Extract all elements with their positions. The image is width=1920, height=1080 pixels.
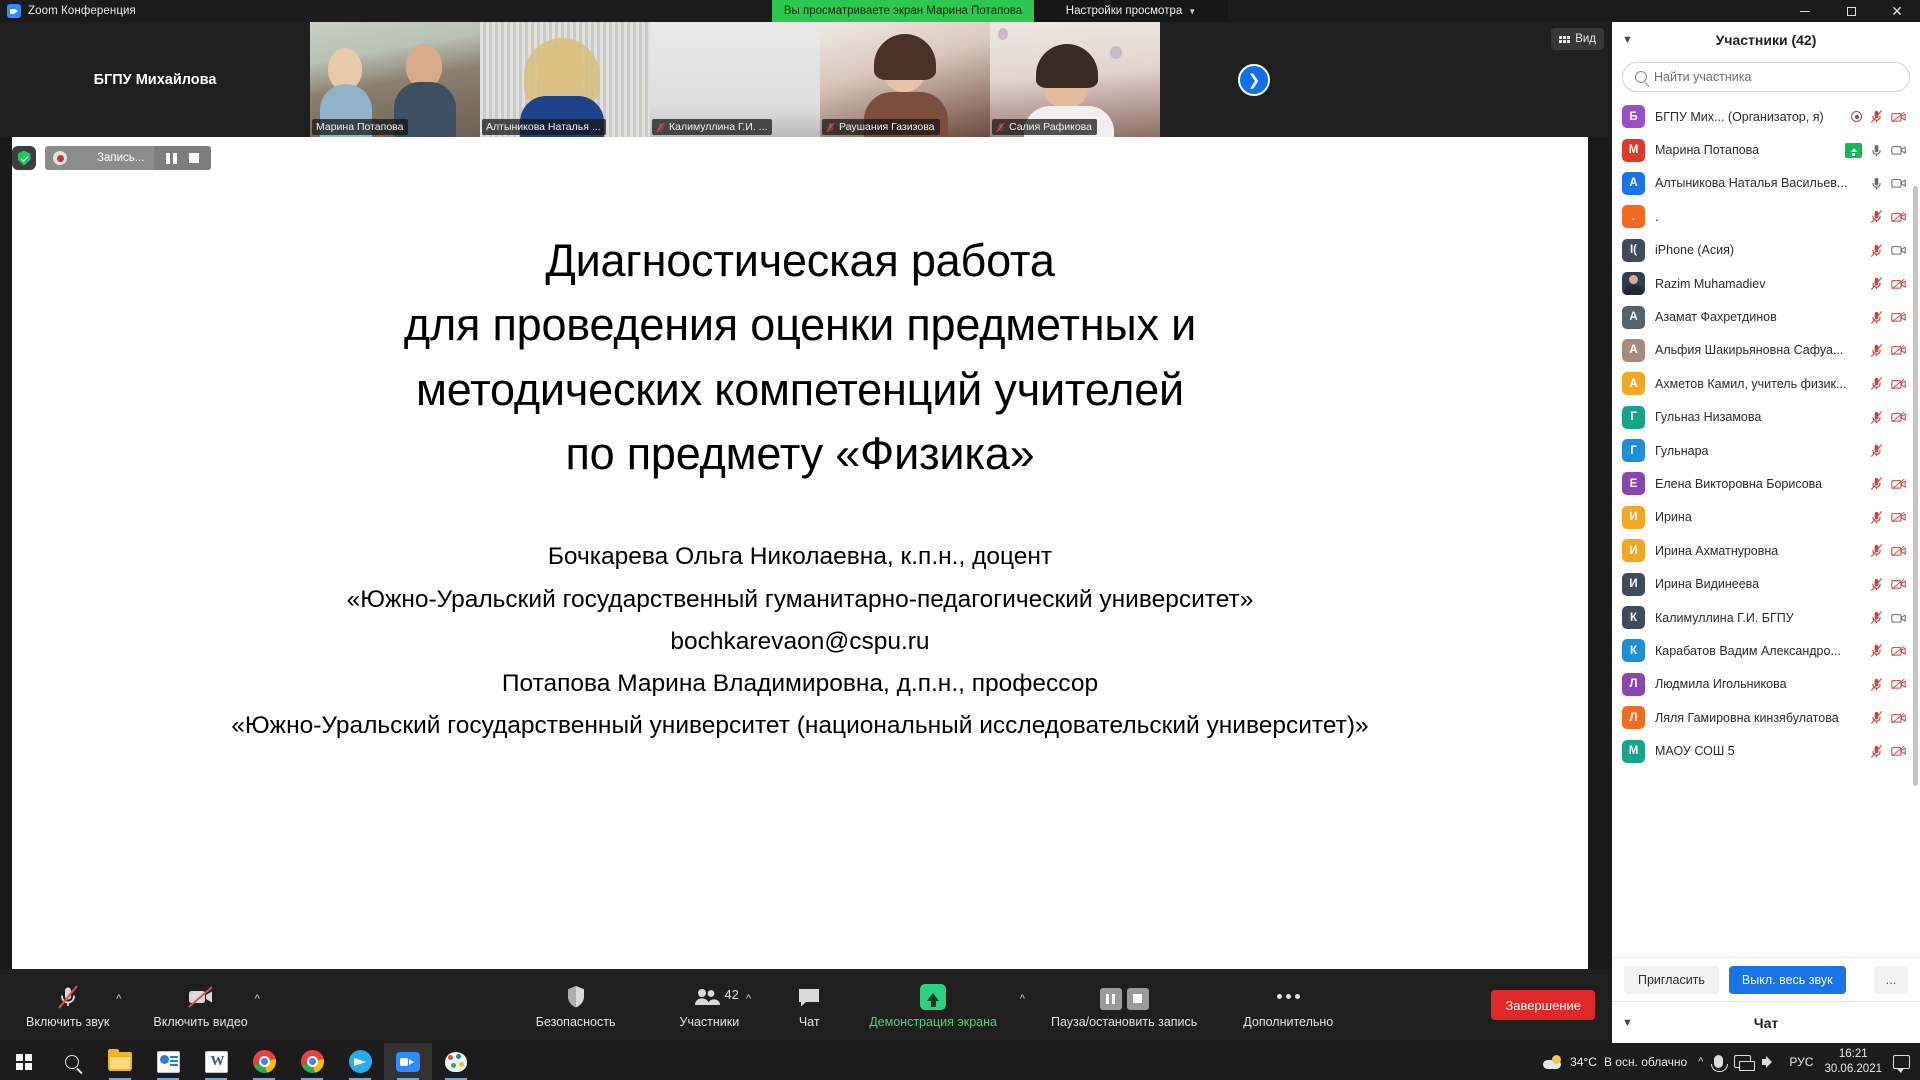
thumbnail-name-text: Марина Потапова: [316, 121, 403, 133]
microphone-muted-icon[interactable]: [1869, 243, 1884, 258]
security-button[interactable]: Безопасность: [532, 969, 620, 1043]
microphone-muted-icon[interactable]: [1869, 376, 1884, 391]
shield-icon: [565, 984, 587, 1010]
start-video-button[interactable]: Включить видео ^: [149, 969, 251, 1043]
close-icon: ✕: [1891, 4, 1903, 18]
video-muted-icon: [186, 984, 216, 1010]
microphone-muted-icon[interactable]: [1869, 744, 1884, 759]
video-icon[interactable]: [1891, 610, 1906, 625]
microphone-tray-icon[interactable]: [1714, 1055, 1723, 1068]
recording-controls: [154, 146, 211, 170]
participant-status-icons: [1869, 176, 1906, 191]
participants-label: Участники: [680, 1015, 740, 1029]
chrome-icon: [253, 1050, 276, 1073]
taskbar-paint[interactable]: [432, 1043, 480, 1080]
chevron-up-icon[interactable]: ^: [116, 993, 121, 1005]
microphone-muted-icon: [1869, 610, 1884, 625]
screen-share-banner: Вы просматриваете экран Марина Потапова: [772, 0, 1034, 22]
participant-status-icons: [1869, 744, 1906, 759]
microphone-muted-icon: [1869, 443, 1884, 458]
thumbnail-name-label: Марина Потапова: [312, 119, 408, 135]
video-muted-icon[interactable]: [1891, 577, 1906, 592]
avatar-initial: А: [1622, 339, 1645, 362]
window-title-bar: Zoom Конференция Вы просматриваете экран…: [0, 0, 1920, 22]
pause-recording-button[interactable]: [166, 153, 177, 164]
chevron-up-icon[interactable]: ^: [255, 993, 260, 1005]
recording-panel: Запись...: [45, 146, 211, 170]
network-tray-icon[interactable]: [1734, 1055, 1751, 1068]
taskbar-file-explorer[interactable]: [96, 1043, 144, 1080]
video-muted-icon: [1891, 577, 1906, 591]
presentation-slide: Диагностическая работа для проведения оц…: [12, 137, 1588, 969]
thumbnail-name-text: Раушания Газизова: [839, 121, 935, 133]
participants-panel: ▼ Участники (42) Найти участника ББГПУ М…: [1612, 22, 1920, 1043]
participant-row[interactable]: ЕЕлена Викторовна Борисова: [1612, 467, 1920, 500]
telegram-icon: [349, 1050, 372, 1073]
participants-scrollbar[interactable]: [1913, 186, 1918, 786]
participant-row[interactable]: ААлтыникова Наталья Васильев...: [1612, 167, 1920, 200]
participant-row[interactable]: ИИрина Ахматнуровна: [1612, 534, 1920, 567]
participant-status-icons: [1869, 243, 1906, 258]
slide-title-line: методических компетенций учителей: [404, 358, 1196, 422]
start-video-label: Включить видео: [153, 1015, 247, 1029]
more-options-button[interactable]: Дополнительно: [1239, 969, 1337, 1043]
participant-status-icons: [1869, 276, 1906, 291]
video-muted-icon: [1891, 310, 1906, 324]
app-title: Zoom Конференция: [28, 5, 136, 17]
avatar-initial: .: [1622, 205, 1645, 228]
video-muted-icon: [1891, 544, 1906, 558]
stop-recording-button[interactable]: [189, 153, 199, 163]
thumbnail-name-label: Салия Рафикова: [992, 119, 1097, 135]
view-layout-button[interactable]: Вид: [1551, 28, 1604, 50]
participant-row[interactable]: ББГПУ Мих... (Организатор, я): [1612, 100, 1920, 133]
video-muted-icon[interactable]: [1891, 376, 1906, 391]
chevron-up-icon[interactable]: ^: [1020, 993, 1025, 1005]
volume-tray-icon[interactable]: [1762, 1055, 1778, 1069]
pause-stop-record-button[interactable]: Пауза/остановить запись: [1047, 969, 1201, 1043]
participants-list[interactable]: ББГПУ Мих... (Организатор, я) ММарина По…: [1612, 100, 1920, 957]
microphone-muted-icon[interactable]: [1869, 476, 1884, 491]
slide-author-line: Потапова Марина Владимировна, д.п.н., пр…: [231, 663, 1368, 705]
record-indicator-icon: [53, 151, 67, 165]
search-placeholder: Найти участника: [1654, 70, 1751, 84]
microphone-muted-icon[interactable]: [1869, 310, 1884, 325]
video-muted-icon[interactable]: [1891, 109, 1906, 124]
participant-status-icons: [1869, 577, 1906, 592]
participant-name: iPhone (Асия): [1655, 243, 1859, 257]
zoom-logo-icon: [7, 4, 21, 18]
system-tray: 34°C В осн. облачно ^ РУС 16:21 30.06.20…: [1543, 1047, 1920, 1076]
search-icon: [65, 1055, 79, 1069]
show-hidden-icons-button[interactable]: ^: [1698, 1056, 1703, 1068]
thumbnail-name-label: Раушания Газизова: [822, 119, 940, 135]
avatar-initial: I(: [1622, 239, 1645, 262]
taskbar-powerpoint[interactable]: [144, 1043, 192, 1080]
end-meeting-button[interactable]: Завершение: [1491, 990, 1595, 1020]
participant-name: .: [1655, 210, 1859, 224]
powerpoint-icon: [157, 1051, 180, 1073]
participant-row[interactable]: ААхметов Камил, учитель физик...: [1612, 367, 1920, 400]
microphone-muted-icon[interactable]: [1869, 109, 1884, 124]
participant-name: Калимуллина Г.И. БГПУ: [1655, 611, 1859, 625]
microphone-icon: [1869, 176, 1884, 191]
video-muted-icon[interactable]: [1891, 643, 1906, 658]
slide-title-line: по предмету «Физика»: [404, 422, 1196, 486]
microphone-muted-icon[interactable]: [1869, 710, 1884, 725]
participant-status-icons: [1869, 310, 1906, 325]
participant-name: Ирина: [1655, 510, 1859, 524]
participant-row[interactable]: ККарабатов Вадим Александро...: [1612, 634, 1920, 667]
video-thumbnail[interactable]: Марина Потапова: [310, 22, 480, 137]
participant-row[interactable]: Razim Muhamadiev: [1612, 267, 1920, 300]
participant-row[interactable]: ММАОУ СОШ 5: [1612, 734, 1920, 767]
microphone-muted-icon: [1869, 710, 1884, 725]
video-muted-icon[interactable]: [1891, 343, 1906, 358]
video-thumbnail[interactable]: Калимуллина Г.И. ...: [650, 22, 820, 137]
folder-icon: [108, 1052, 132, 1071]
participant-status-icons: [1869, 610, 1906, 625]
shared-screen-area: Запись... Диагностическая работа для про…: [12, 137, 1588, 969]
microphone-icon: [1869, 143, 1884, 158]
slide-affiliation-line: «Южно-Уральский государственный гуманита…: [231, 579, 1368, 621]
panel-more-button[interactable]: ...: [1874, 966, 1908, 994]
end-meeting-label: Завершение: [1505, 998, 1581, 1013]
avatar-initial: Л: [1622, 706, 1645, 729]
slide-affiliation-line: «Южно-Уральский государственный универси…: [231, 705, 1368, 747]
invite-label: Пригласить: [1638, 973, 1705, 987]
video-thumbnail[interactable]: Алтыникова Наталья ...: [480, 22, 650, 137]
video-muted-icon: [1891, 510, 1906, 524]
participant-name: Азамат Фахретдинов: [1655, 310, 1859, 324]
video-muted-icon: [1891, 110, 1906, 124]
participant-row[interactable]: ММарина Потапова: [1612, 133, 1920, 166]
host-indicator-icon: [1851, 111, 1862, 122]
share-screen-button[interactable]: Демонстрация экрана ^: [865, 969, 1001, 1043]
microphone-muted-icon: [1869, 510, 1884, 525]
video-muted-icon[interactable]: [1891, 410, 1906, 425]
participant-name: Алтыникова Наталья Васильев...: [1655, 176, 1859, 190]
participant-status-icons: [1869, 543, 1906, 558]
security-shield-button[interactable]: [12, 146, 36, 170]
security-label: Безопасность: [536, 1015, 616, 1029]
video-muted-icon: [1891, 410, 1906, 424]
avatar-initial: К: [1622, 639, 1645, 662]
participant-name: Людмила Игольникова: [1655, 677, 1859, 691]
video-muted-icon[interactable]: [1891, 543, 1906, 558]
microphone-muted-icon[interactable]: [1869, 209, 1884, 224]
self-video-tile[interactable]: БГПУ Михайлова: [0, 22, 310, 137]
participant-status-icons: [1869, 410, 1906, 425]
participant-status-icons: [1845, 143, 1906, 158]
video-muted-icon: [1891, 477, 1906, 491]
chevron-up-icon[interactable]: ^: [746, 993, 751, 1005]
participant-name: Ахметов Камил, учитель физик...: [1655, 377, 1859, 391]
participants-button[interactable]: 42 Участники ^: [676, 969, 744, 1043]
video-icon[interactable]: [1891, 243, 1906, 258]
shield-icon: [18, 151, 31, 166]
microphone-muted-icon: [1869, 677, 1884, 692]
taskbar-zoom[interactable]: [384, 1043, 432, 1080]
video-muted-icon: [1891, 343, 1906, 357]
video-none-placeholder: [1891, 443, 1906, 458]
participant-status-icons: [1869, 643, 1906, 658]
video-muted-icon[interactable]: [1891, 710, 1906, 725]
video-muted-icon: [1891, 277, 1906, 291]
thumbnail-name-text: Салия Рафикова: [1009, 121, 1092, 133]
participant-name: Карабатов Вадим Александро...: [1655, 644, 1859, 658]
title-bar-left: Zoom Конференция: [0, 4, 760, 18]
next-page-button[interactable]: ❯: [1238, 64, 1270, 96]
slide-authors-block: Бочкарева Ольга Николаевна, к.п.н., доце…: [231, 536, 1368, 747]
microphone-muted-icon: [1869, 343, 1884, 358]
microphone-muted-icon[interactable]: [1869, 443, 1884, 458]
participant-row[interactable]: ИИрина: [1612, 501, 1920, 534]
video-muted-icon[interactable]: [1891, 744, 1906, 759]
taskbar-clock[interactable]: 16:21 30.06.2021: [1824, 1047, 1882, 1076]
grid-icon: [1559, 36, 1570, 43]
avatar-initial: М: [1622, 740, 1645, 763]
chat-bubble-icon: [797, 984, 821, 1010]
video-filmstrip: БГПУ Михайлова Марина Потапова Алтыников…: [0, 22, 1612, 137]
zoom-icon: [396, 1052, 420, 1072]
participant-status-icons: [1869, 343, 1906, 358]
chat-panel-header[interactable]: ▼ Чат: [1612, 1001, 1920, 1043]
clock-time: 16:21: [1824, 1047, 1882, 1061]
avatar-initial: Г: [1622, 406, 1645, 429]
microphone-muted-icon[interactable]: [1869, 643, 1884, 658]
avatar-photo: [1622, 272, 1645, 295]
participant-name: Razim Muhamadiev: [1655, 277, 1859, 291]
start-button[interactable]: [0, 1043, 48, 1080]
microphone-muted-icon: [1869, 376, 1884, 391]
more-options-label: Дополнительно: [1243, 1015, 1333, 1029]
slide-author-line: Бочкарева Ольга Николаевна, к.п.н., доце…: [231, 536, 1368, 578]
language-indicator[interactable]: РУС: [1789, 1055, 1813, 1069]
avatar-initial: А: [1622, 172, 1645, 195]
chat-label: Чат: [799, 1015, 820, 1029]
windows-taskbar: 34°C В осн. облачно ^ РУС 16:21 30.06.20…: [0, 1043, 1920, 1080]
microphone-muted-icon: [1869, 276, 1884, 291]
thumbnail-name-text: Калимуллина Г.И. ...: [669, 121, 767, 133]
participant-row[interactable]: ААльфия Шакирьяновна Сафуа...: [1612, 334, 1920, 367]
video-thumbnail[interactable]: Раушания Газизова: [820, 22, 990, 137]
screen-sharing-badge-icon: [1845, 143, 1862, 158]
windows-logo-icon: [16, 1054, 32, 1070]
view-options-button[interactable]: Настройки просмотра ▼: [1034, 0, 1228, 22]
avatar-initial: И: [1622, 539, 1645, 562]
participants-panel-header: ▼ Участники (42): [1612, 22, 1920, 58]
microphone-muted-icon[interactable]: [1869, 343, 1884, 358]
participant-name: Марина Потапова: [1655, 143, 1835, 157]
maximize-icon: [1847, 7, 1856, 16]
participant-name: Альфия Шакирьяновна Сафуа...: [1655, 343, 1859, 357]
microphone-muted-icon: [1869, 310, 1884, 325]
participant-name: Гульназ Низамова: [1655, 410, 1859, 424]
participant-name: Ирина Ахматнуровна: [1655, 544, 1859, 558]
recording-control-bar: Запись...: [12, 146, 211, 170]
avatar-initial: Г: [1622, 439, 1645, 462]
participant-row[interactable]: ККалимуллина Г.И. БГПУ: [1612, 601, 1920, 634]
video-icon[interactable]: [1891, 176, 1906, 191]
taskbar-chrome[interactable]: [240, 1043, 288, 1080]
view-options-label: Настройки просмотра: [1066, 5, 1182, 17]
self-video-label: БГПУ Михайлова: [94, 72, 217, 88]
chevron-down-icon: ▼: [1188, 7, 1196, 16]
participants-panel-title: Участники (42): [1716, 32, 1817, 48]
participant-status-icons: [1869, 710, 1906, 725]
word-icon: [205, 1051, 228, 1073]
microphone-muted-icon[interactable]: [1869, 677, 1884, 692]
taskbar-search-button[interactable]: [48, 1043, 96, 1080]
thumbnail-name-text: Алтыникова Наталья ...: [486, 121, 601, 133]
avatar-initial: А: [1622, 306, 1645, 329]
microphone-muted-icon[interactable]: [1869, 543, 1884, 558]
microphone-muted-icon: [1869, 209, 1884, 224]
microphone-muted-icon[interactable]: [1869, 276, 1884, 291]
participant-name: Гульнара: [1655, 444, 1859, 458]
participant-row[interactable]: ААзамат Фахретдинов: [1612, 300, 1920, 333]
video-icon: [1891, 243, 1906, 257]
microphone-muted-icon: [56, 984, 80, 1010]
participant-row[interactable]: I(iPhone (Асия): [1612, 234, 1920, 267]
video-muted-icon[interactable]: [1891, 310, 1906, 325]
share-screen-label: Демонстрация экрана: [869, 1015, 997, 1029]
search-icon: [1635, 71, 1647, 83]
participant-row[interactable]: ИИрина Видинеева: [1612, 567, 1920, 600]
taskbar-word[interactable]: [192, 1043, 240, 1080]
pause-stop-record-icon: [1100, 984, 1149, 1010]
microphone-icon[interactable]: [1869, 143, 1884, 158]
microphone-muted-icon: [1869, 243, 1884, 258]
filmstrip-right-area: ❯ Вид: [1160, 22, 1612, 137]
video-thumbnail[interactable]: Салия Рафикова: [990, 22, 1160, 137]
participant-row[interactable]: ЛЛюдмила Игольникова: [1612, 668, 1920, 701]
participant-status-icons: [1869, 510, 1906, 525]
avatar-initial: А: [1622, 372, 1645, 395]
minimize-button[interactable]: [1782, 0, 1828, 22]
chevron-down-icon[interactable]: ▼: [1622, 34, 1633, 46]
microphone-muted-icon: [1869, 410, 1884, 425]
recording-status: Запись...: [45, 146, 154, 170]
participant-name: МАОУ СОШ 5: [1655, 744, 1859, 758]
weather-temperature: 34°C: [1570, 1055, 1597, 1069]
video-icon[interactable]: [1891, 143, 1906, 158]
participant-status-icons: [1869, 476, 1906, 491]
microphone-muted-icon: [996, 122, 1005, 133]
weather-description: В осн. облачно: [1604, 1055, 1687, 1069]
thumbnail-name-label: Алтыникова Наталья ...: [482, 119, 606, 135]
participants-count: 42: [724, 987, 738, 1002]
participant-status-icons: [1851, 109, 1906, 124]
microphone-muted-icon: [1869, 577, 1884, 592]
video-muted-icon[interactable]: [1891, 476, 1906, 491]
microphone-muted-icon: [1869, 476, 1884, 491]
close-button[interactable]: ✕: [1874, 0, 1920, 22]
participants-icon: 42: [694, 984, 724, 1010]
taskbar-telegram[interactable]: [336, 1043, 384, 1080]
cloud-icon: [1543, 1055, 1563, 1069]
mute-all-label: Выкл. весь звук: [1742, 973, 1833, 987]
chevron-down-icon[interactable]: ▼: [1622, 1017, 1633, 1029]
pause-icon[interactable]: [1100, 988, 1122, 1010]
unmute-button[interactable]: Включить звук ^: [22, 969, 113, 1043]
chat-button[interactable]: Чат: [793, 969, 825, 1043]
microphone-muted-icon[interactable]: [1869, 510, 1884, 525]
video-muted-icon: [1891, 744, 1906, 758]
slide-title-line: Диагностическая работа: [404, 229, 1196, 293]
minimize-icon: [1800, 11, 1810, 12]
notifications-icon[interactable]: [1893, 1055, 1910, 1069]
video-muted-icon[interactable]: [1891, 276, 1906, 291]
avatar-initial: Е: [1622, 472, 1645, 495]
slide-title: Диагностическая работа для проведения оц…: [404, 229, 1196, 486]
video-muted-icon[interactable]: [1891, 677, 1906, 692]
participant-status-icons: [1869, 376, 1906, 391]
video-muted-icon[interactable]: [1891, 510, 1906, 525]
avatar-initial: И: [1622, 573, 1645, 596]
video-muted-icon[interactable]: [1891, 209, 1906, 224]
view-button-label: Вид: [1575, 33, 1596, 45]
search-input[interactable]: Найти участника: [1622, 62, 1910, 92]
taskbar-chrome-2[interactable]: [288, 1043, 336, 1080]
participant-status-icons: [1869, 209, 1906, 224]
participant-row[interactable]: ГГульнара: [1612, 434, 1920, 467]
participant-row[interactable]: ..: [1612, 200, 1920, 233]
weather-widget[interactable]: 34°C В осн. облачно: [1543, 1055, 1687, 1069]
unmute-label: Включить звук: [26, 1015, 109, 1029]
microphone-muted-icon[interactable]: [1869, 610, 1884, 625]
participant-name: Ляля Гамировна кинзябулатова: [1655, 711, 1859, 725]
chrome-icon: [301, 1050, 324, 1073]
microphone-muted-icon: [826, 122, 835, 133]
share-screen-icon: [920, 984, 946, 1010]
microphone-muted-icon: [1869, 543, 1884, 558]
meeting-toolbar: Включить звук ^ Включить видео ^ Безопас…: [0, 969, 1612, 1043]
video-icon: [1891, 611, 1906, 625]
participant-name: Елена Викторовна Борисова: [1655, 477, 1859, 491]
avatar-initial: Б: [1622, 105, 1645, 128]
mute-all-button[interactable]: Выкл. весь звук: [1729, 966, 1846, 994]
microphone-muted-icon: [1869, 109, 1884, 124]
video-icon: [1891, 176, 1906, 190]
participant-row[interactable]: ЛЛяля Гамировна кинзябулатова: [1612, 701, 1920, 734]
thumbnail-name-label: Калимуллина Г.И. ...: [652, 119, 772, 135]
microphone-muted-icon[interactable]: [1869, 577, 1884, 592]
video-muted-icon: [1891, 377, 1906, 391]
participant-name: Ирина Видинеева: [1655, 577, 1859, 591]
window-controls: ✕: [1782, 0, 1920, 22]
microphone-icon[interactable]: [1869, 176, 1884, 191]
slide-email-line: bochkarevaon@cspu.ru: [231, 621, 1368, 663]
microphone-muted-icon: [1869, 643, 1884, 658]
participant-name: БГПУ Мих... (Организатор, я): [1655, 110, 1841, 124]
invite-button[interactable]: Пригласить: [1624, 966, 1719, 994]
microphone-muted-icon[interactable]: [1869, 410, 1884, 425]
video-muted-icon: [1891, 644, 1906, 658]
participant-row[interactable]: ГГульназ Низамова: [1612, 401, 1920, 434]
video-muted-icon: [1891, 711, 1906, 725]
microphone-muted-icon: [656, 122, 665, 133]
paint-icon: [445, 1052, 467, 1072]
participants-panel-actions: Пригласить Выкл. весь звук ...: [1612, 957, 1920, 1001]
video-muted-icon: [1891, 677, 1906, 691]
chat-panel-title: Чат: [1754, 1015, 1778, 1031]
panel-more-label: ...: [1886, 972, 1897, 987]
maximize-button[interactable]: [1828, 0, 1874, 22]
video-muted-icon: [1891, 210, 1906, 224]
stop-icon[interactable]: [1127, 988, 1149, 1010]
